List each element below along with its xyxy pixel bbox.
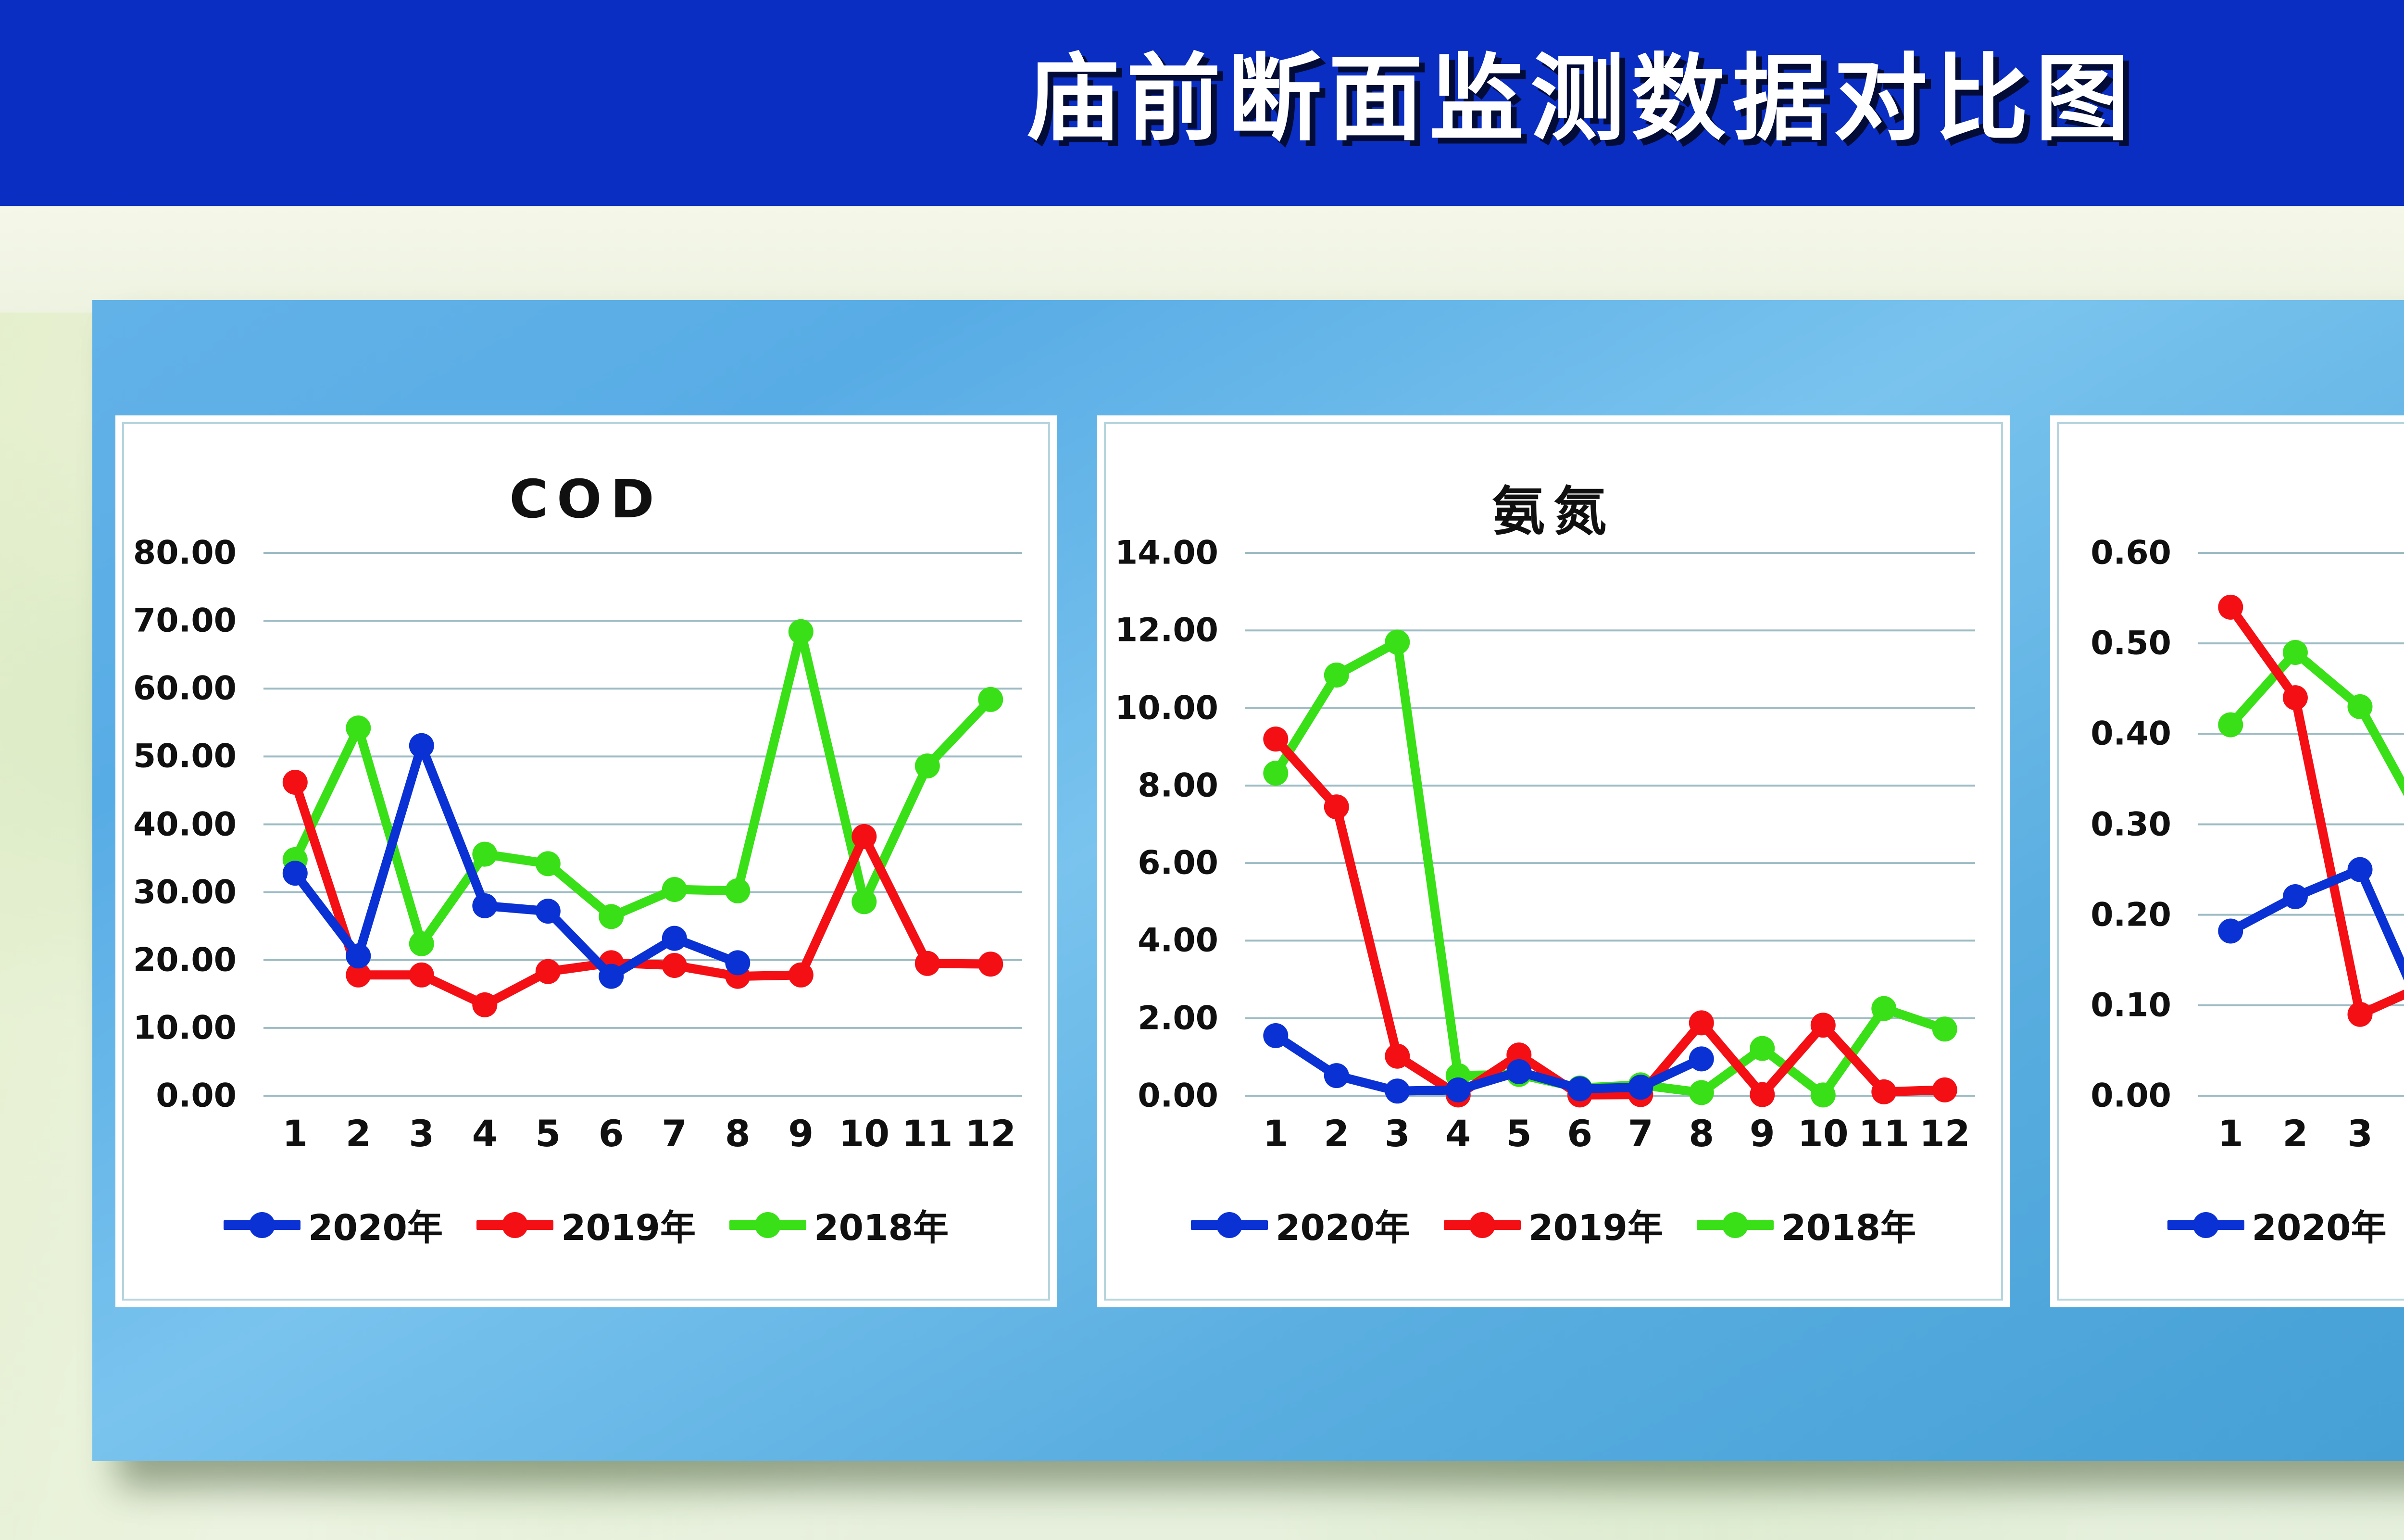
chart-svg — [124, 424, 1052, 1302]
data-point — [1506, 1059, 1531, 1084]
y-axis-tick-label: 50.00 — [124, 738, 237, 776]
legend-marker-icon — [224, 1217, 300, 1233]
chart-plot-cod: 0.0010.0020.0030.0040.0050.0060.0070.008… — [124, 424, 1048, 1299]
data-point — [472, 992, 497, 1017]
y-axis-tick-label: 0.60 — [2059, 534, 2171, 572]
y-axis-tick-label: 10.00 — [1106, 689, 1218, 727]
legend-label: 2020年 — [1276, 1199, 1410, 1251]
legend-marker-icon — [729, 1217, 806, 1233]
legend-item-2020年[interactable]: 2020年 — [2167, 1199, 2387, 1251]
data-point — [472, 893, 497, 918]
legend-label: 2018年 — [1781, 1199, 1916, 1251]
x-axis-tick-label: 2 — [346, 1112, 371, 1155]
data-point — [1871, 996, 1896, 1021]
data-point — [536, 899, 561, 924]
data-point — [283, 861, 308, 886]
legend-item-2019年[interactable]: 2019年 — [1444, 1199, 1663, 1251]
legend-label: 2020年 — [2252, 1199, 2387, 1251]
x-axis-tick-label: 11 — [902, 1112, 953, 1155]
y-axis-tick-label: 8.00 — [1106, 766, 1218, 804]
data-point — [2348, 857, 2373, 882]
y-axis-tick-label: 0.40 — [2059, 715, 2171, 753]
chart-card-ammonia-nitrogen: 氨氮 0.002.004.006.008.0010.0012.0014.0012… — [1097, 415, 2010, 1307]
x-axis-tick-label: 12 — [1919, 1112, 1970, 1155]
y-axis-tick-label: 60.00 — [124, 670, 237, 708]
x-axis-tick-label: 9 — [1750, 1112, 1775, 1155]
x-axis-tick-label: 6 — [1567, 1112, 1592, 1155]
y-axis-tick-label: 70.00 — [124, 602, 237, 640]
legend-marker-icon — [476, 1217, 553, 1233]
data-point — [1750, 1082, 1775, 1107]
series-line — [1276, 739, 1945, 1095]
x-axis-tick-label: 4 — [1445, 1112, 1471, 1155]
legend-marker-icon — [1697, 1217, 1774, 1233]
x-axis-tick-label: 1 — [282, 1112, 308, 1155]
legend-item-2018年[interactable]: 2018年 — [1697, 1199, 1916, 1251]
data-point — [1628, 1075, 1653, 1100]
data-point — [662, 926, 687, 951]
data-point — [1446, 1077, 1471, 1102]
data-point — [1385, 630, 1410, 655]
data-point — [662, 953, 687, 978]
data-point — [2218, 919, 2243, 944]
data-point — [1324, 1063, 1349, 1088]
background-top-wash — [0, 207, 2404, 313]
data-point — [1932, 1077, 1957, 1102]
data-point — [409, 963, 434, 988]
data-point — [725, 878, 750, 903]
y-axis-tick-label: 20.00 — [124, 941, 237, 979]
x-axis-tick-label: 1 — [1263, 1112, 1289, 1155]
legend-item-2019年[interactable]: 2019年 — [476, 1199, 696, 1251]
series-line — [2230, 870, 2404, 1016]
legend-label: 2018年 — [814, 1199, 949, 1251]
data-point — [2283, 640, 2308, 665]
data-point — [851, 824, 876, 849]
x-axis-tick-label: 9 — [788, 1112, 814, 1155]
legend-dot — [502, 1212, 528, 1238]
data-point — [1385, 1078, 1410, 1103]
x-axis-tick-label: 11 — [1858, 1112, 1909, 1155]
data-point — [1871, 1079, 1896, 1104]
y-axis-tick-label: 0.00 — [2059, 1077, 2171, 1115]
x-axis-tick-label: 5 — [535, 1112, 561, 1155]
chart-plot-total-phosphorus: 0.000.100.200.300.400.500.60123456789101… — [2059, 424, 2404, 1299]
y-axis-tick-label: 0.10 — [2059, 986, 2171, 1024]
data-point — [851, 889, 876, 914]
gridlines — [1245, 553, 1975, 1096]
data-point — [536, 851, 561, 876]
x-axis-tick-label: 10 — [839, 1112, 889, 1155]
data-point — [789, 619, 814, 644]
data-point — [978, 687, 1003, 712]
series-2020年 — [1263, 1023, 1714, 1103]
x-axis-tick-label: 7 — [662, 1112, 687, 1155]
gridlines — [2198, 553, 2404, 1096]
data-point — [2348, 694, 2373, 719]
data-point — [1263, 1023, 1288, 1048]
y-axis-tick-label: 0.50 — [2059, 625, 2171, 663]
data-point — [1385, 1044, 1410, 1069]
y-axis-tick-label: 40.00 — [124, 805, 237, 843]
data-point — [1932, 1016, 1957, 1041]
data-point — [725, 950, 750, 975]
data-point — [2218, 595, 2243, 620]
page-title: 庙前断面监测数据对比图 — [0, 52, 2404, 146]
y-axis-tick-label: 6.00 — [1106, 844, 1218, 882]
legend-item-2020年[interactable]: 2020年 — [224, 1199, 443, 1251]
legend-dot — [755, 1212, 781, 1238]
y-axis-tick-label: 14.00 — [1106, 534, 1218, 572]
y-axis-tick-label: 30.00 — [124, 873, 237, 911]
data-point — [409, 931, 434, 956]
x-axis-tick-label: 2 — [1324, 1112, 1349, 1155]
chart-card-inner: 氨氮 0.002.004.006.008.0010.0012.0014.0012… — [1104, 422, 2003, 1301]
y-axis-tick-label: 12.00 — [1106, 612, 1218, 650]
legend-marker-icon — [1444, 1217, 1521, 1233]
legend-marker-icon — [1191, 1217, 1268, 1233]
chart-svg — [1106, 424, 2005, 1302]
legend-dot — [249, 1212, 275, 1238]
chart-legend: 2020年2019年2018年 — [1106, 1199, 2001, 1251]
data-point — [283, 770, 308, 795]
x-axis-tick-label: 3 — [1385, 1112, 1410, 1155]
x-axis-tick-label: 1 — [2218, 1112, 2243, 1155]
data-point — [346, 943, 371, 968]
legend-dot — [1469, 1212, 1495, 1238]
x-axis-tick-label: 3 — [2347, 1112, 2373, 1155]
chart-card-total-phosphorus: 总磷 0.000.100.200.300.400.500.60123456789… — [2050, 415, 2404, 1307]
legend-marker-icon — [2167, 1217, 2244, 1233]
chart-card-inner: COD 0.0010.0020.0030.0040.0050.0060.0070… — [122, 422, 1050, 1301]
data-point — [1263, 726, 1288, 751]
data-point — [1750, 1036, 1775, 1061]
data-point — [978, 952, 1003, 977]
data-point — [1689, 1010, 1714, 1035]
data-point — [409, 733, 434, 758]
data-point — [915, 951, 940, 976]
data-point — [789, 963, 814, 988]
legend-dot — [1216, 1212, 1242, 1238]
gridlines — [263, 553, 1022, 1096]
series-2019年 — [283, 770, 1003, 1017]
chart-card-inner: 总磷 0.000.100.200.300.400.500.60123456789… — [2057, 422, 2404, 1301]
data-point — [599, 904, 624, 929]
y-axis-tick-label: 0.20 — [2059, 896, 2171, 934]
content-panel: COD 0.0010.0020.0030.0040.0050.0060.0070… — [92, 300, 2404, 1461]
y-axis-tick-label: 0.00 — [1106, 1077, 1218, 1115]
data-point — [1811, 1082, 1836, 1107]
legend-label: 2020年 — [308, 1199, 443, 1251]
x-axis-tick-label: 2 — [2282, 1112, 2308, 1155]
legend-item-2018年[interactable]: 2018年 — [729, 1199, 949, 1251]
x-axis-tick-label: 8 — [1689, 1112, 1714, 1155]
x-axis-tick-label: 12 — [965, 1112, 1016, 1155]
series-line — [1276, 642, 1945, 1095]
data-point — [1324, 794, 1349, 819]
y-axis-tick-label: 80.00 — [124, 534, 237, 572]
x-axis-tick-label: 3 — [409, 1112, 434, 1155]
data-point — [599, 964, 624, 989]
data-point — [2218, 713, 2243, 738]
chart-legend: 2020年2019年2018年 — [124, 1199, 1048, 1251]
x-axis-tick-label: 5 — [1506, 1112, 1532, 1155]
series-line — [2230, 607, 2404, 1077]
y-axis-tick-label: 4.00 — [1106, 922, 1218, 960]
data-point — [346, 715, 371, 740]
data-point — [1567, 1077, 1592, 1102]
x-axis-tick-label: 7 — [1628, 1112, 1653, 1155]
legend-dot — [1722, 1212, 1748, 1238]
data-point — [915, 753, 940, 778]
legend-item-2020年[interactable]: 2020年 — [1191, 1199, 1410, 1251]
y-axis-tick-label: 2.00 — [1106, 999, 1218, 1037]
legend-dot — [2193, 1212, 2219, 1238]
data-point — [1324, 663, 1349, 688]
x-axis-tick-label: 6 — [599, 1112, 624, 1155]
y-axis-tick-label: 0.00 — [124, 1077, 237, 1115]
data-point — [1263, 761, 1288, 786]
x-axis-tick-label: 10 — [1798, 1112, 1849, 1155]
series-2018年 — [1263, 630, 1957, 1108]
x-axis-tick-label: 4 — [472, 1112, 498, 1155]
chart-plot-ammonia-nitrogen: 0.002.004.006.008.0010.0012.0014.0012345… — [1106, 424, 2001, 1299]
chart-legend: 2020年2019年2018年 — [2059, 1199, 2404, 1251]
legend-label: 2019年 — [1528, 1199, 1663, 1251]
y-axis-tick-label: 10.00 — [124, 1009, 237, 1047]
data-point — [1689, 1080, 1714, 1105]
header-banner: 庙前断面监测数据对比图 — [0, 0, 2404, 206]
data-point — [472, 842, 497, 867]
x-axis-tick-label: 8 — [725, 1112, 751, 1155]
data-point — [2283, 685, 2308, 710]
data-point — [662, 877, 687, 902]
data-point — [2348, 1002, 2373, 1027]
y-axis-tick-label: 0.30 — [2059, 805, 2171, 843]
chart-card-cod: COD 0.0010.0020.0030.0040.0050.0060.0070… — [115, 415, 1057, 1307]
series-line — [295, 632, 991, 944]
data-point — [1811, 1013, 1836, 1038]
data-point — [2283, 884, 2308, 909]
data-point — [1689, 1046, 1714, 1071]
legend-label: 2019年 — [561, 1199, 696, 1251]
data-point — [536, 959, 561, 984]
